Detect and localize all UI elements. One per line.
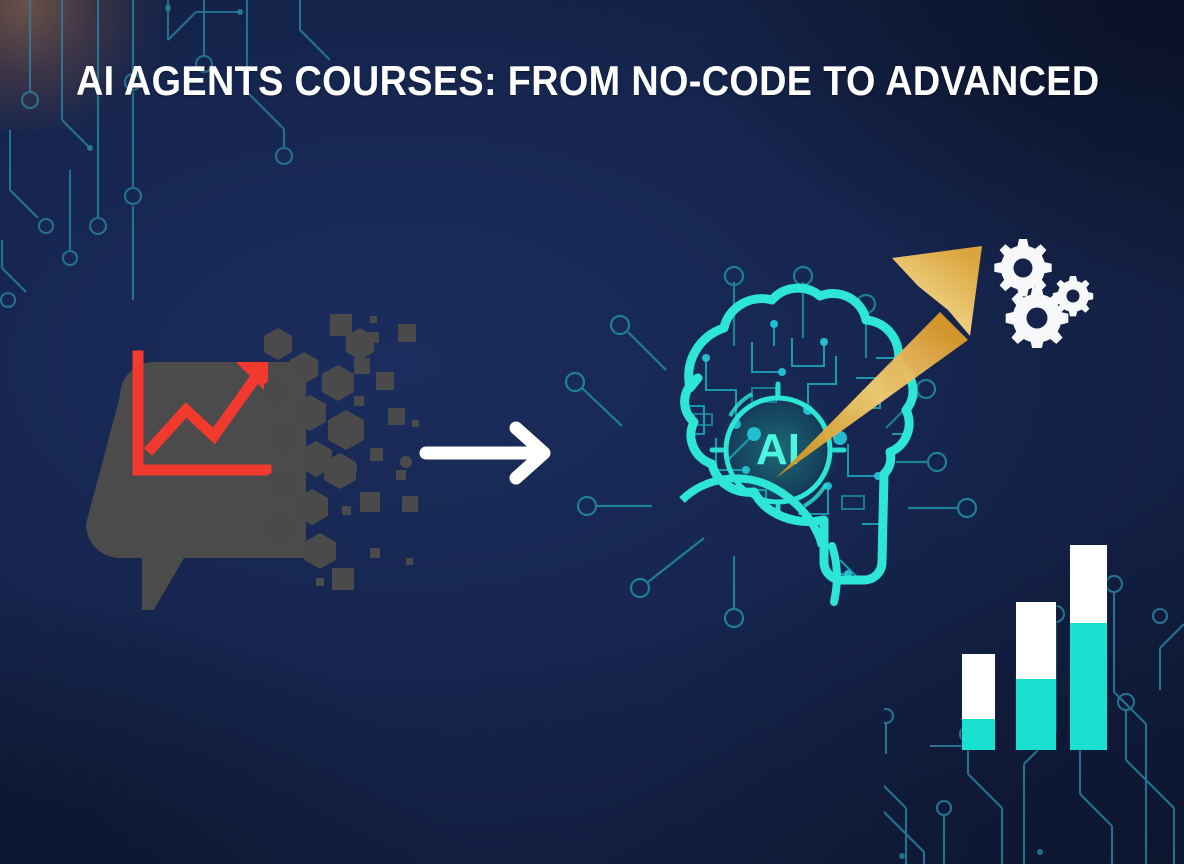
gold-arrow-shaft [776, 312, 968, 478]
page-title: AI AGENTS COURSES: FROM NO-CODE TO ADVAN… [76, 57, 1100, 105]
transition-arrow-icon [418, 418, 568, 488]
bar-chart [962, 535, 1107, 750]
gear-icon-large [1006, 287, 1069, 348]
gold-growth-arrow [770, 240, 1000, 480]
banner-canvas: AI AGENTS COURSES: FROM NO-CODE TO ADVAN… [0, 0, 1184, 864]
bar-chart-bar-3 [1070, 545, 1107, 750]
gears-group [985, 238, 1100, 348]
bar-chart-bar-3-fill [1070, 623, 1107, 750]
bar-chart-bar-1 [962, 654, 995, 750]
gear-icon-medium [994, 239, 1051, 296]
bar-chart-bar-2 [1016, 602, 1056, 750]
bar-chart-bar-1-fill [962, 719, 995, 750]
bar-chart-bar-2-fill [1016, 679, 1056, 750]
